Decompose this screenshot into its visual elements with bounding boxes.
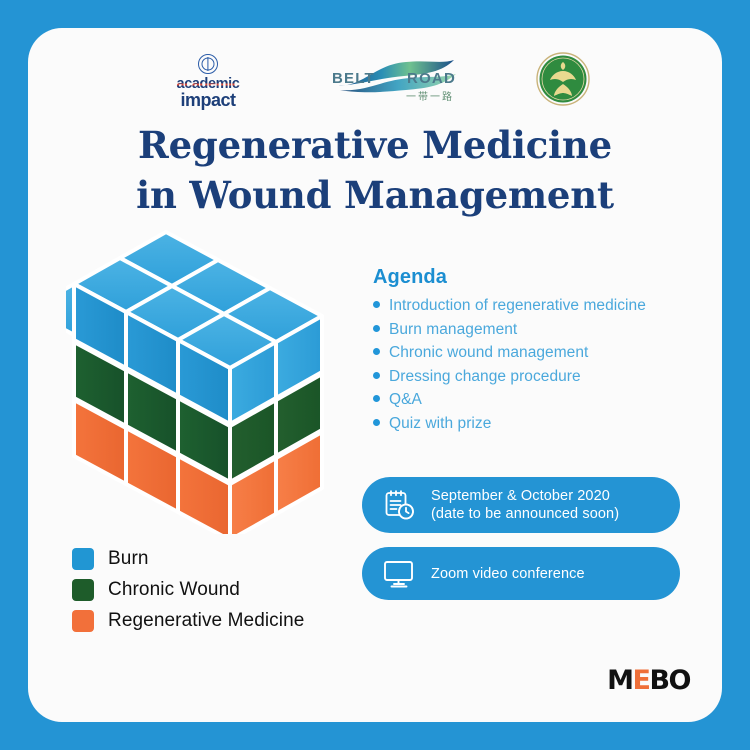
bullet-icon bbox=[373, 419, 380, 426]
agenda-item-label: Dressing change procedure bbox=[389, 367, 581, 386]
title-line-1: Regenerative Medicine bbox=[28, 120, 722, 170]
legend-label: Burn bbox=[108, 548, 149, 570]
un-globe-emblem-icon bbox=[198, 54, 218, 74]
agenda-heading: Agenda bbox=[373, 266, 703, 289]
platform-pill-text: Zoom video conference bbox=[431, 565, 585, 583]
date-pill[interactable]: September & October 2020 (date to be ann… bbox=[362, 477, 680, 533]
belt-text: BELT bbox=[332, 70, 375, 87]
rubiks-cube-svg bbox=[66, 224, 356, 534]
bullet-icon bbox=[373, 325, 380, 332]
legend-swatch-icon bbox=[72, 548, 94, 570]
legend-label: Chronic Wound bbox=[108, 579, 240, 601]
date-pill-text: September & October 2020 (date to be ann… bbox=[431, 487, 619, 523]
legend-item-chronic-wound: Chronic Wound bbox=[72, 579, 304, 601]
platform-pill-line1: Zoom video conference bbox=[431, 566, 585, 582]
poster-card: academic impact bbox=[28, 28, 722, 722]
agenda-item-label: Quiz with prize bbox=[389, 414, 491, 433]
legend: Burn Chronic Wound Regenerative Medicine bbox=[72, 548, 304, 641]
agenda-item-label: Burn management bbox=[389, 320, 517, 339]
agenda-item: Quiz with prize bbox=[373, 414, 703, 433]
unai-impact-text: impact bbox=[160, 91, 256, 109]
title-line-2: in Wound Management bbox=[28, 170, 722, 220]
legend-item-burn: Burn bbox=[72, 548, 304, 570]
bullet-icon bbox=[373, 348, 380, 355]
page-title: Regenerative Medicine in Wound Managemen… bbox=[28, 120, 722, 220]
un-academic-impact-logo: academic impact bbox=[160, 54, 256, 109]
legend-swatch-icon bbox=[72, 579, 94, 601]
mebo-part1: M bbox=[607, 665, 632, 696]
belt-road-chinese-text: 一带一路 bbox=[406, 88, 454, 103]
bullet-icon bbox=[373, 372, 380, 379]
agenda-item-label: Introduction of regenerative medicine bbox=[389, 296, 646, 315]
belt-and-road-logo: BELT ROAD 一带一路 bbox=[330, 56, 462, 106]
legend-item-regenerative-medicine: Regenerative Medicine bbox=[72, 610, 304, 632]
date-pill-line2: (date to be announced soon) bbox=[431, 505, 619, 523]
legend-label: Regenerative Medicine bbox=[108, 610, 304, 632]
agenda-item: Q&A bbox=[373, 390, 703, 409]
green-seal-icon bbox=[536, 52, 590, 106]
agenda-item-label: Q&A bbox=[389, 390, 422, 409]
poster-canvas: academic impact bbox=[0, 0, 750, 750]
legend-swatch-icon bbox=[72, 610, 94, 632]
bullet-icon bbox=[373, 395, 380, 402]
platform-pill[interactable]: Zoom video conference bbox=[362, 547, 680, 600]
unai-academic-text: academic bbox=[160, 77, 256, 91]
monitor-icon bbox=[382, 559, 416, 589]
calendar-clock-icon bbox=[382, 488, 416, 522]
road-text: ROAD bbox=[407, 70, 456, 87]
rubiks-cube-illustration bbox=[66, 224, 356, 539]
bullet-icon bbox=[373, 301, 380, 308]
agenda-item: Burn management bbox=[373, 320, 703, 339]
mebo-part2: BO bbox=[649, 665, 690, 696]
green-circular-seal-logo bbox=[536, 52, 590, 111]
agenda-section: Agenda Introduction of regenerative medi… bbox=[373, 266, 703, 437]
agenda-item: Dressing change procedure bbox=[373, 367, 703, 386]
agenda-item: Chronic wound management bbox=[373, 343, 703, 362]
agenda-item-label: Chronic wound management bbox=[389, 343, 588, 362]
date-pill-line1: September & October 2020 bbox=[431, 488, 610, 504]
agenda-item: Introduction of regenerative medicine bbox=[373, 296, 703, 315]
logo-row: academic impact bbox=[28, 48, 722, 114]
mebo-logo: MEBO bbox=[607, 665, 690, 696]
mebo-accent: E bbox=[633, 665, 650, 696]
